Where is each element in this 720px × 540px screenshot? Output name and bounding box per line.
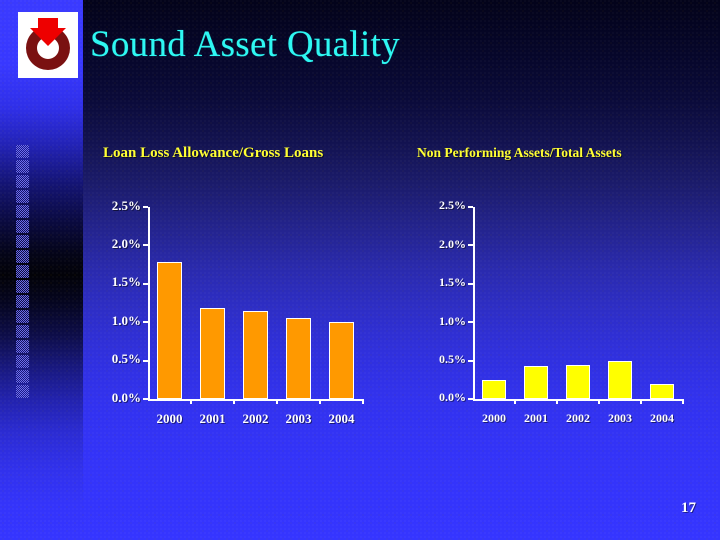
chart-non-performing-assets: Non Performing Assets/Total Assets0.0%0.…: [415, 145, 720, 449]
y-axis-label: 2.5%: [101, 198, 141, 214]
x-axis-tick: [598, 399, 600, 404]
y-axis-tick: [143, 206, 148, 208]
y-axis-tick: [143, 398, 148, 400]
y-axis-label: 0.0%: [418, 390, 466, 405]
x-axis-label: 2002: [557, 411, 599, 426]
y-axis-line: [148, 207, 150, 399]
decorative-square: [16, 220, 29, 233]
chart-title: Non Performing Assets/Total Assets: [417, 145, 622, 161]
x-axis-label: 2000: [148, 411, 191, 427]
y-axis-line: [473, 207, 475, 399]
chart-bar: [200, 308, 225, 399]
decorative-square: [16, 205, 29, 218]
decorative-square: [16, 250, 29, 263]
decorative-square: [16, 190, 29, 203]
decorative-square: [16, 235, 29, 248]
y-axis-label: 2.5%: [418, 198, 466, 213]
chart-bar: [566, 365, 590, 399]
decorative-square: [16, 265, 29, 278]
y-axis-tick: [468, 360, 473, 362]
y-axis-tick: [143, 360, 148, 362]
y-axis-label: 1.0%: [101, 313, 141, 329]
chart-bar: [157, 262, 182, 399]
chart-bar: [650, 384, 674, 399]
chart-bar: [608, 361, 632, 399]
x-axis-label: 2004: [641, 411, 683, 426]
chart-bar: [286, 318, 311, 399]
y-axis-tick: [468, 321, 473, 323]
x-axis-label: 2000: [473, 411, 515, 426]
x-axis-label: 2003: [277, 411, 320, 427]
x-axis-label: 2002: [234, 411, 277, 427]
x-axis-tick: [556, 399, 558, 404]
x-axis-tick: [190, 399, 192, 404]
y-axis-tick: [468, 206, 473, 208]
left-accent-band: [0, 0, 83, 540]
x-axis-line: [148, 399, 363, 401]
decorative-square: [16, 370, 29, 383]
chart-bar: [482, 380, 506, 399]
x-axis-tick: [682, 399, 684, 404]
page-number: 17: [681, 500, 696, 517]
page-title: Sound Asset Quality: [90, 22, 400, 68]
x-axis-label: 2001: [515, 411, 557, 426]
x-axis-label: 2004: [320, 411, 363, 427]
chart-bar: [329, 322, 354, 399]
decorative-square: [16, 145, 29, 158]
x-axis-tick: [362, 399, 364, 404]
y-axis-tick: [468, 283, 473, 285]
y-axis-label: 0.5%: [101, 351, 141, 367]
chart-loan-loss-allowance: Loan Loss Allowance/Gross Loans0.0%0.5%1…: [98, 145, 403, 449]
y-axis-tick: [468, 398, 473, 400]
decorative-square: [16, 340, 29, 353]
y-axis-tick: [468, 244, 473, 246]
y-axis-tick: [143, 321, 148, 323]
x-axis-tick: [640, 399, 642, 404]
decorative-square: [16, 355, 29, 368]
y-axis-label: 2.0%: [101, 236, 141, 252]
decorative-square: [16, 295, 29, 308]
logo-arrow-ring-icon: [18, 12, 78, 78]
y-axis-label: 0.0%: [101, 390, 141, 406]
y-axis-label: 1.5%: [418, 275, 466, 290]
decorative-square: [16, 325, 29, 338]
decorative-square: [16, 280, 29, 293]
x-axis-tick: [276, 399, 278, 404]
chart-title: Loan Loss Allowance/Gross Loans: [103, 145, 323, 162]
y-axis-label: 0.5%: [418, 352, 466, 367]
x-axis-tick: [319, 399, 321, 404]
y-axis-label: 1.5%: [101, 274, 141, 290]
chart-plot-area: 0.0%0.5%1.0%1.5%2.0%2.5%2000200120022003…: [473, 207, 683, 399]
x-axis-label: 2001: [191, 411, 234, 427]
decorative-square: [16, 175, 29, 188]
chart-bar: [524, 366, 548, 399]
decorative-square: [16, 385, 29, 398]
chart-bar: [243, 311, 268, 399]
y-axis-tick: [143, 244, 148, 246]
organization-logo: [18, 12, 78, 78]
x-axis-tick: [233, 399, 235, 404]
x-axis-line: [473, 399, 683, 401]
chart-plot-area: 0.0%0.5%1.0%1.5%2.0%2.5%2000200120022003…: [148, 207, 363, 399]
slide-canvas: Sound Asset Quality Loan Loss Allowance/…: [0, 0, 720, 540]
decorative-square: [16, 160, 29, 173]
y-axis-label: 1.0%: [418, 314, 466, 329]
x-axis-label: 2003: [599, 411, 641, 426]
x-axis-tick: [514, 399, 516, 404]
y-axis-label: 2.0%: [418, 237, 466, 252]
y-axis-tick: [143, 283, 148, 285]
decorative-square: [16, 310, 29, 323]
